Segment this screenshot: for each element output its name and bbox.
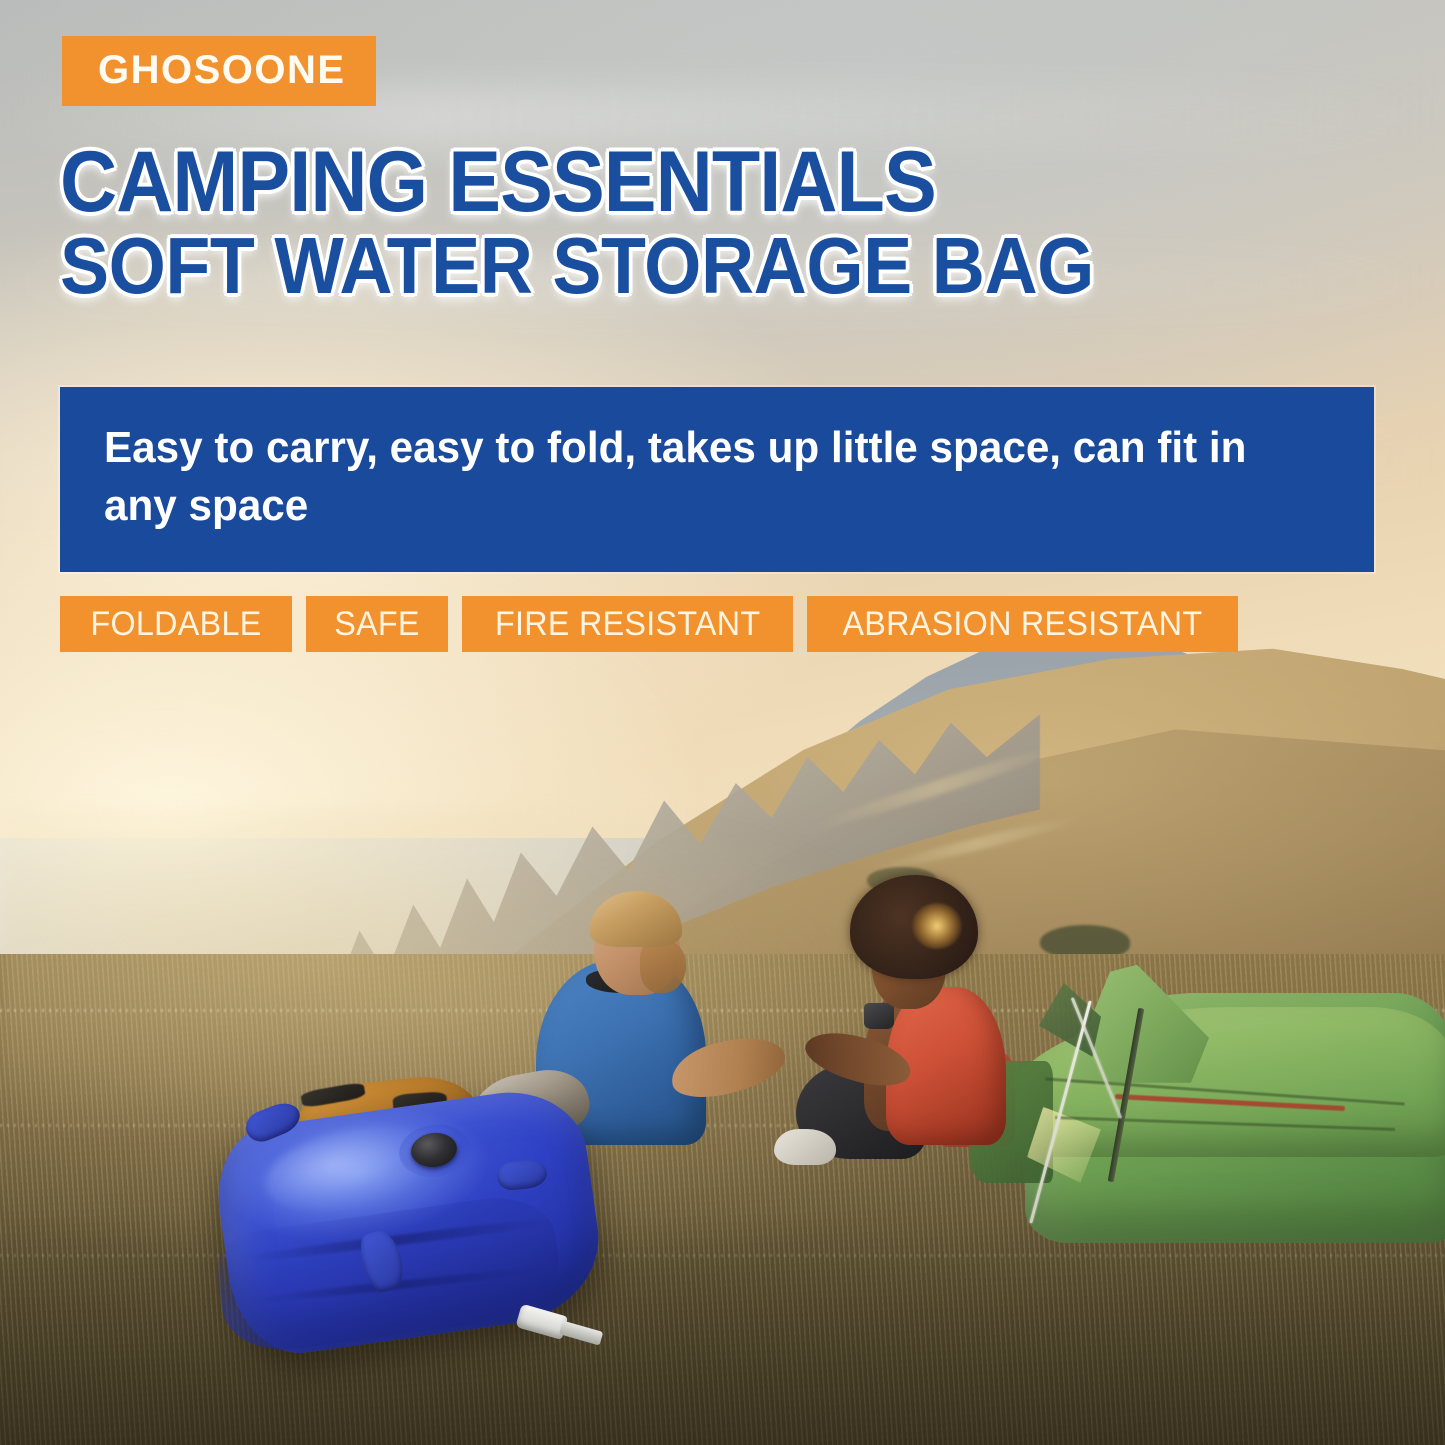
camper-shoe: [774, 1129, 836, 1165]
camper-beard: [640, 941, 686, 993]
headline-line-2: SOFT WATER STORAGE BAG: [60, 224, 1284, 308]
feature-tag-row: FOLDABLE SAFE FIRE RESISTANT ABRASION RE…: [60, 596, 1238, 652]
feature-tag-fire-resistant: FIRE RESISTANT: [462, 596, 793, 652]
bag-spigot-valve: [514, 1300, 605, 1354]
brand-badge: GHOSOONE: [62, 36, 376, 106]
page-title: CAMPING ESSENTIALS SOFT WATER STORAGE BA…: [60, 140, 1390, 308]
product-group: [205, 1085, 635, 1415]
feature-tag-safe: SAFE: [306, 596, 448, 652]
feature-tag-label: ABRASION RESISTANT: [843, 605, 1203, 644]
feature-tag-foldable: FOLDABLE: [60, 596, 292, 652]
feature-tag-abrasion-resistant: ABRASION RESISTANT: [807, 596, 1238, 652]
camper-hair: [590, 891, 682, 947]
feature-tag-label: SAFE: [334, 605, 420, 644]
camping-cup: [864, 1003, 894, 1029]
product-marketing-poster: GHOSOONE CAMPING ESSENTIALS SOFT WATER S…: [0, 0, 1445, 1445]
sun-flare: [912, 903, 962, 949]
feature-banner: Easy to carry, easy to fold, takes up li…: [60, 387, 1374, 572]
brand-name: GHOSOONE: [98, 50, 346, 90]
feature-tag-label: FOLDABLE: [91, 605, 262, 644]
valve-tip: [559, 1321, 603, 1346]
feature-tag-label: FIRE RESISTANT: [495, 605, 760, 644]
female-camper: [820, 875, 1050, 1155]
feature-banner-text: Easy to carry, easy to fold, takes up li…: [104, 419, 1285, 535]
headline-line-1: CAMPING ESSENTIALS: [60, 140, 1284, 224]
